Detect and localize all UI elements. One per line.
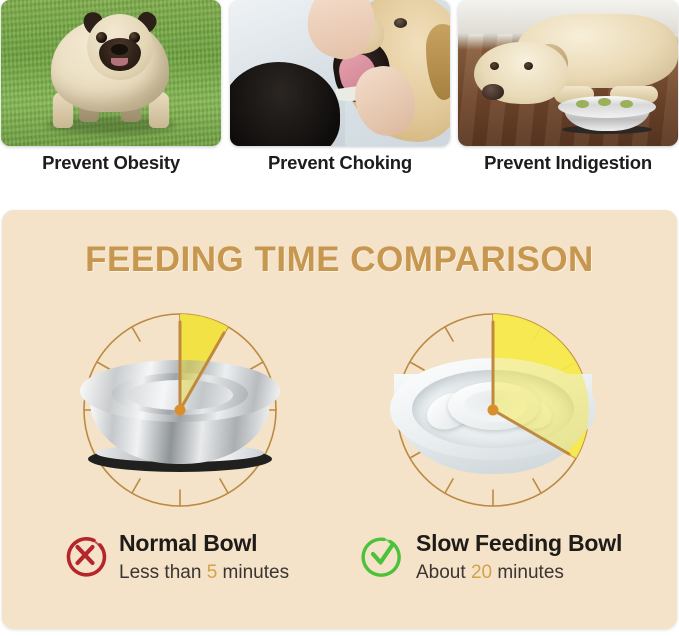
red-circle-cross-icon	[63, 533, 107, 577]
result-label-slow-feeding-bowl: Slow Feeding Bowl	[416, 530, 622, 557]
result-slow-feeding-bowl: Slow Feeding Bowl About 20 minutes	[354, 530, 674, 602]
pug-nose	[111, 44, 128, 55]
benefit-card-choking: Prevent Choking	[230, 0, 450, 146]
clock-hands-overlay	[57, 304, 303, 516]
result-time-normal-bowl: Less than 5 minutes	[119, 562, 289, 584]
time-value: 20	[471, 562, 492, 583]
time-suffix: minutes	[223, 562, 290, 583]
retriever-eye	[394, 18, 407, 28]
clock-hands-overlay	[370, 304, 616, 516]
clock-center-pin	[488, 405, 499, 416]
benefits-photo-strip: Prevent Obesity Prevent Choking	[0, 0, 679, 192]
feeding-time-comparison-panel: FEEDING TIME COMPARISON	[2, 210, 677, 629]
photo-vet-checking-dog-mouth	[230, 0, 450, 146]
time-suffix: minutes	[497, 562, 564, 583]
benefit-card-obesity: Prevent Obesity	[1, 0, 221, 146]
page-title: FEEDING TIME COMPARISON	[2, 240, 677, 280]
benefit-caption-choking: Prevent Choking	[230, 152, 450, 174]
time-prefix: Less than	[119, 562, 201, 583]
benefit-caption-obesity: Prevent Obesity	[1, 152, 221, 174]
labrador-eye	[490, 62, 499, 70]
labrador-eye	[524, 62, 533, 70]
kibble	[576, 100, 589, 108]
labrador-nose	[482, 84, 504, 100]
result-label-normal-bowl: Normal Bowl	[119, 530, 257, 557]
photo-overweight-pug	[1, 0, 221, 146]
slow-feeding-bowl-dial	[370, 304, 616, 516]
time-value: 5	[207, 562, 218, 583]
kibble	[598, 98, 611, 106]
result-time-slow-feeding-bowl: About 20 minutes	[416, 562, 564, 584]
result-normal-bowl: Normal Bowl Less than 5 minutes	[57, 530, 357, 602]
kibble	[620, 100, 633, 108]
benefit-caption-indigestion: Prevent Indigestion	[458, 152, 678, 174]
steel-food-bowl	[554, 96, 660, 136]
time-prefix: About	[416, 562, 466, 583]
benefit-card-indigestion: Prevent Indigestion	[458, 0, 678, 146]
clock-center-pin	[175, 405, 186, 416]
photo-labrador-with-bowl	[458, 0, 678, 146]
normal-bowl-dial	[57, 304, 303, 516]
green-circle-check-icon	[360, 533, 404, 577]
pug-mouth	[111, 58, 128, 66]
